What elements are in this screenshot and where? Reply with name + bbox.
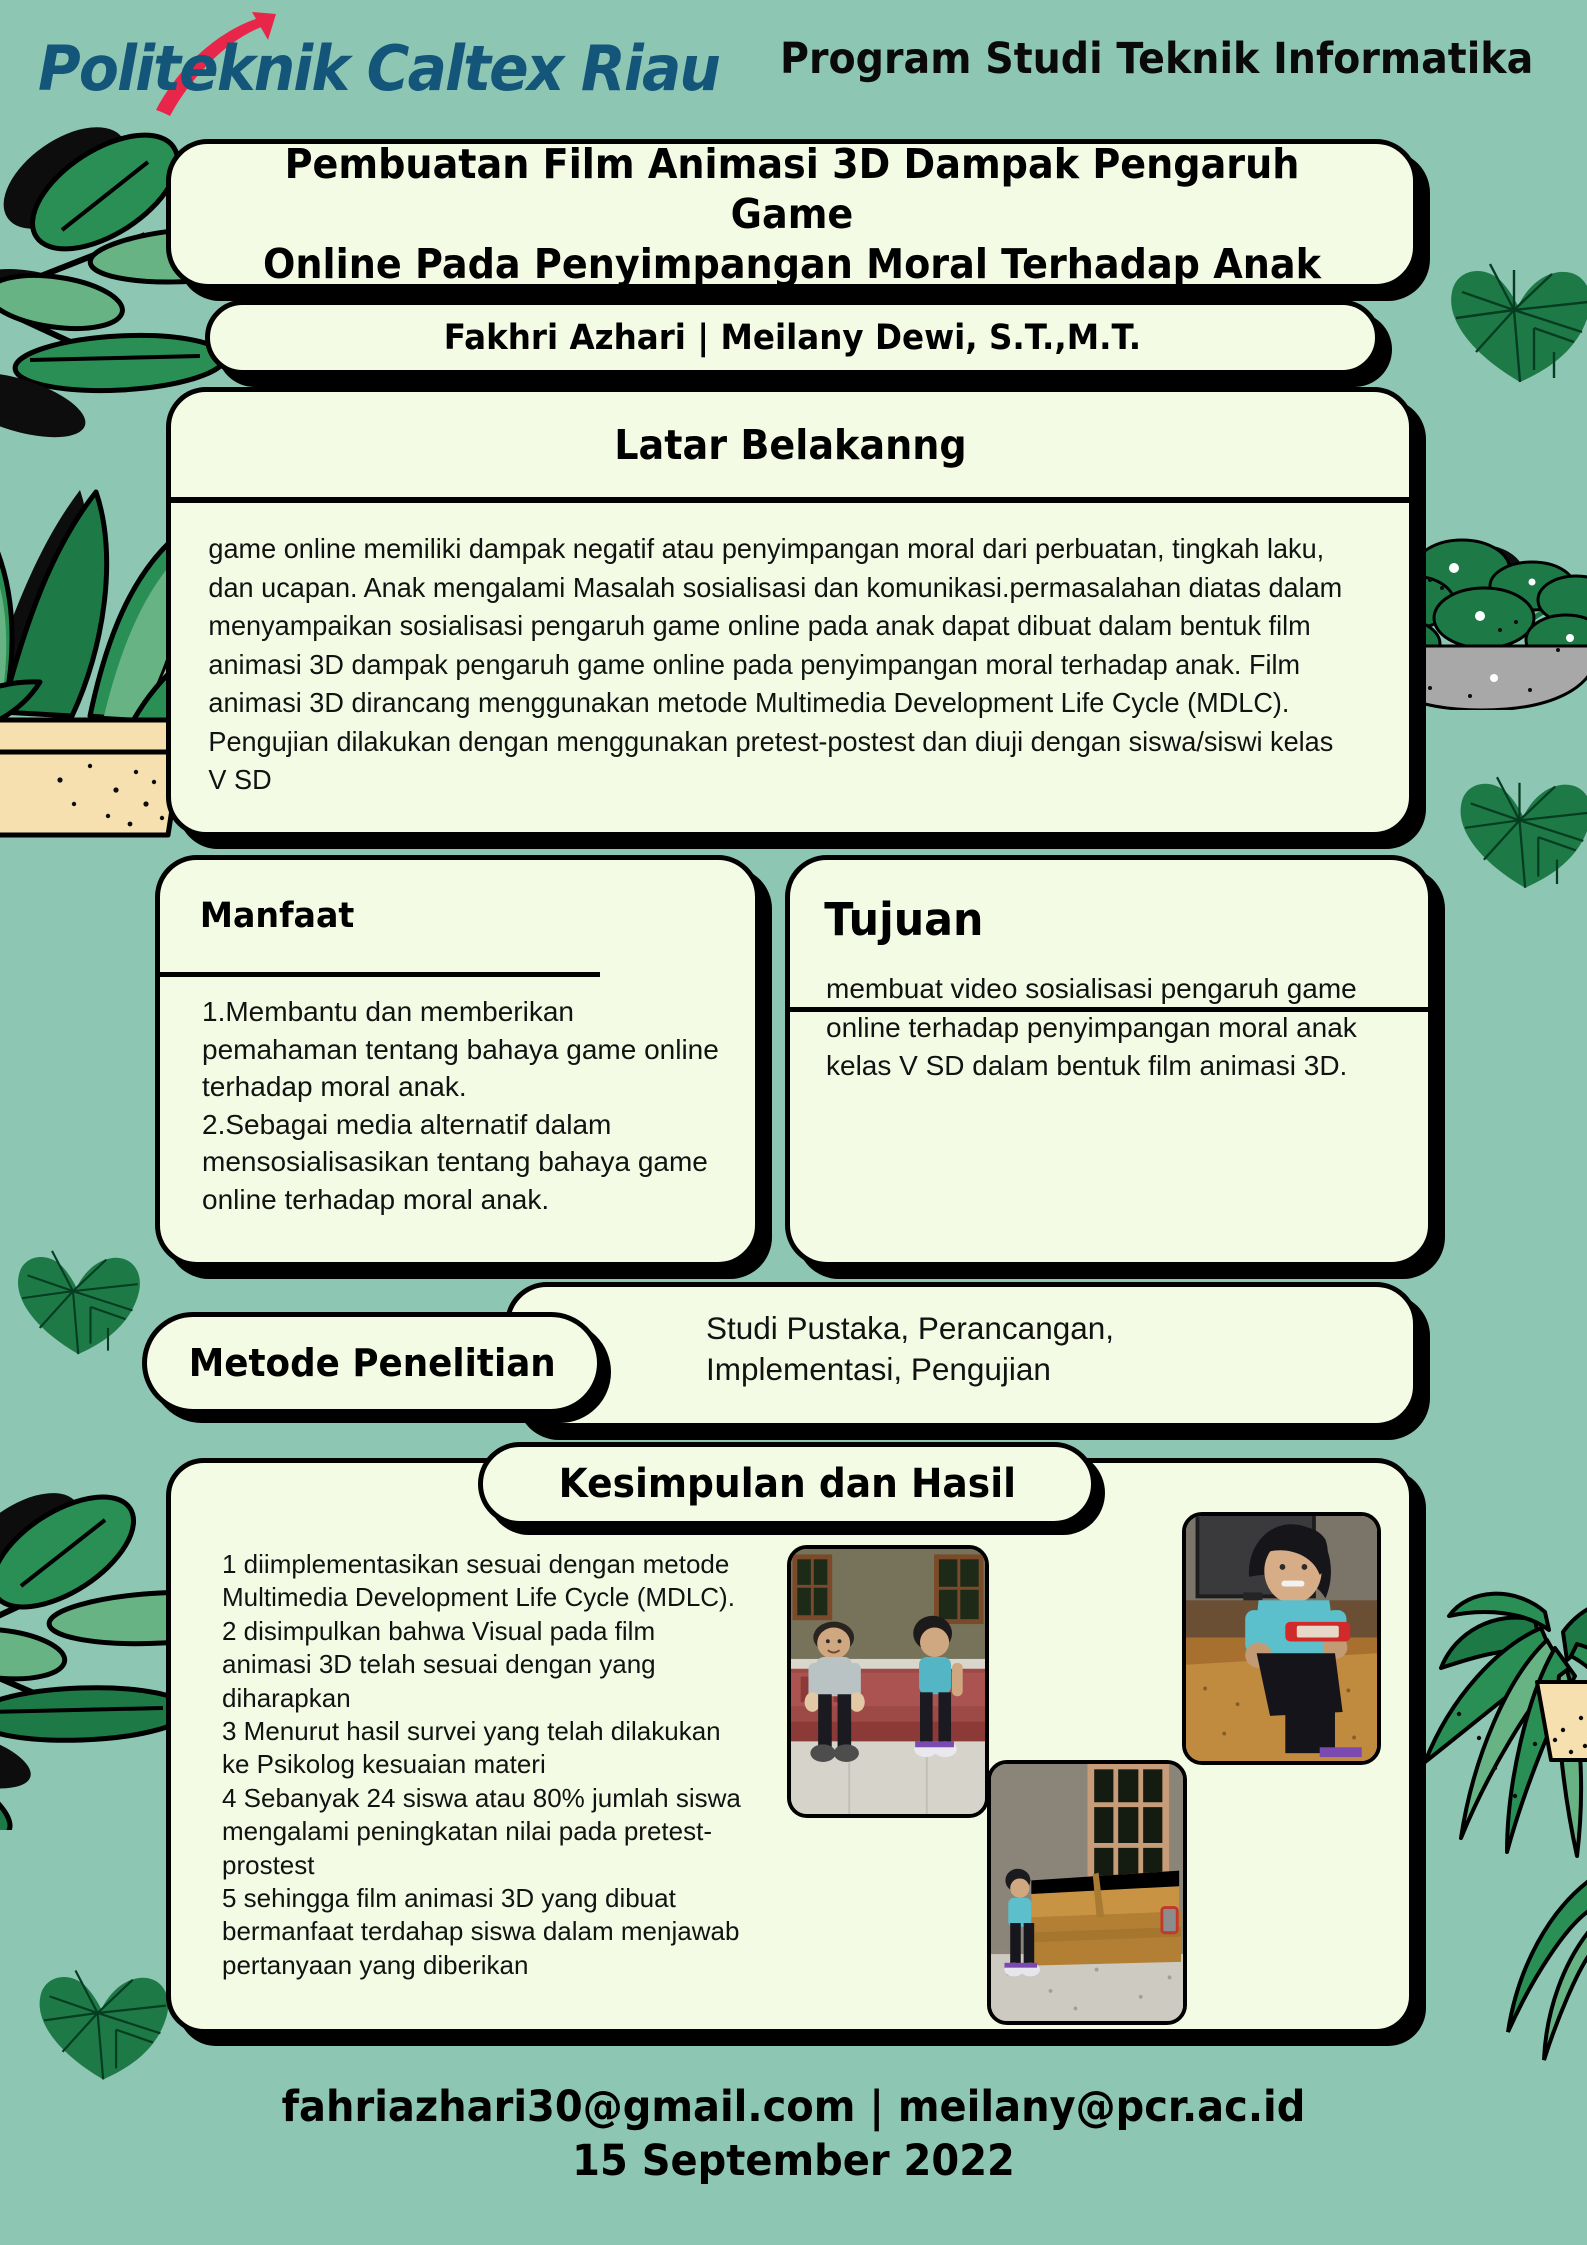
metode-penelitian-badge: Metode Penelitian xyxy=(142,1312,602,1414)
program-studi-label: Program Studi Teknik Informatika xyxy=(780,34,1533,84)
metode-penelitian-body: Studi Pustaka, Perancangan, Implementasi… xyxy=(706,1308,1397,1390)
institution-logo-text: Politeknik Caltex Riau xyxy=(38,32,719,105)
drooping-leaves-right-bottom-icon xyxy=(1460,1870,1587,2070)
poster-title-line1: Pembuatan Film Animasi 3D Dampak Pengaru… xyxy=(239,139,1346,239)
footer-contacts: fahriazhari30@gmail.com | meilany@pcr.ac… xyxy=(56,2082,1532,2132)
latar-belakang-card: Latar Belakanng game online memiliki dam… xyxy=(166,387,1414,837)
tujuan-heading: Tujuan xyxy=(790,860,1396,946)
screenshot-child-playing-game xyxy=(1182,1512,1381,1765)
poster-header: Politeknik Caltex Riau Program Studi Tek… xyxy=(0,0,1587,128)
latar-belakang-heading: Latar Belakanng xyxy=(614,421,966,469)
authors-card: Fakhri Azhari | Meilany Dewi, S.T.,M.T. xyxy=(205,300,1380,375)
tujuan-card: Tujuan membuat video sosialisasi pengaru… xyxy=(785,855,1433,1267)
kesimpulan-badge: Kesimpulan dan Hasil xyxy=(478,1442,1096,1526)
heart-leaf-left-lower-icon xyxy=(30,1965,180,2085)
poster-title-card: Pembuatan Film Animasi 3D Dampak Pengaru… xyxy=(166,139,1418,289)
manfaat-card: Manfaat 1.Membantu dan memberikan pemaha… xyxy=(155,855,760,1267)
heart-leaf-topright-icon xyxy=(1442,258,1587,388)
kesimpulan-heading: Kesimpulan dan Hasil xyxy=(558,1461,1015,1507)
screenshot-two-children-on-steps xyxy=(787,1545,989,1818)
manfaat-heading: Manfaat xyxy=(160,860,725,936)
institution-logo: Politeknik Caltex Riau xyxy=(30,14,690,114)
authors-line: Fakhri Azhari | Meilany Dewi, S.T.,M.T. xyxy=(251,318,1334,358)
spider-plant-potted-right-lower-icon xyxy=(1395,1500,1587,1920)
screenshot-living-room-sofa xyxy=(987,1760,1187,2025)
footer-date: 15 September 2022 xyxy=(56,2136,1532,2186)
metode-penelitian-heading: Metode Penelitian xyxy=(188,1341,555,1385)
poster-title-line2: Online Pada Penyimpangan Moral Terhadap … xyxy=(239,239,1346,289)
latar-belakang-body: game online memiliki dampak negatif atau… xyxy=(171,503,1390,800)
manfaat-body: 1.Membantu dan memberikan pemahaman tent… xyxy=(160,977,755,1218)
tujuan-body: membuat video sosialisasi pengaruh game … xyxy=(790,970,1428,1086)
poster-root: Politeknik Caltex Riau Program Studi Tek… xyxy=(0,0,1587,2245)
poster-footer: fahriazhari30@gmail.com | meilany@pcr.ac… xyxy=(0,2082,1587,2186)
heart-leaf-left-mid-icon xyxy=(10,1245,150,1360)
poster-title: Pembuatan Film Animasi 3D Dampak Pengaru… xyxy=(214,139,1369,289)
tujuan-body-wrapper: membuat video sosialisasi pengaruh game … xyxy=(790,970,1428,1086)
heart-leaf-right-mid-icon xyxy=(1452,770,1587,895)
kesimpulan-body: 1 diimplementasikan sesuai dengan metode… xyxy=(222,1548,742,1982)
latar-belakang-header: Latar Belakanng xyxy=(171,392,1409,503)
metode-penelitian-card: Studi Pustaka, Perancangan, Implementasi… xyxy=(505,1282,1418,1428)
